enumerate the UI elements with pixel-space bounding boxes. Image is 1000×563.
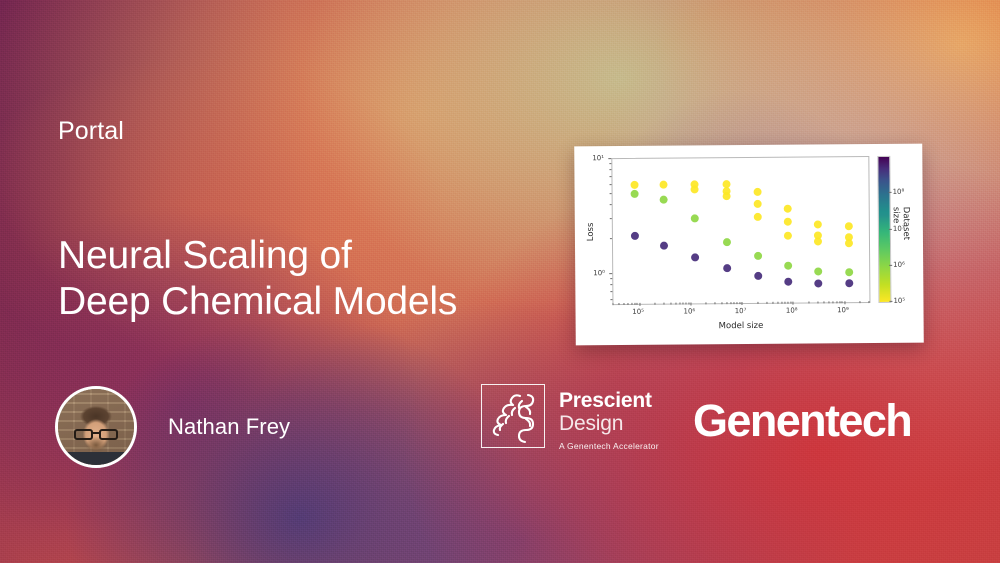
x-tick-label: 10⁹ [837,306,849,314]
scatter-point [723,238,731,246]
y-tick-label: 10⁰ [593,269,605,277]
axis-tick [777,302,778,304]
axis-tick [737,302,738,304]
axis-tick [628,303,629,305]
speaker-block: Nathan Frey [55,386,290,468]
axis-tick [610,218,612,219]
scatter-point [630,190,638,198]
scatter-point [844,222,852,230]
axis-tick [829,301,830,303]
glasses-icon [74,429,118,440]
scatter-point [784,217,792,225]
x-axis-title: Model size [719,321,764,331]
scatter-point [722,192,730,200]
scatter-point [845,239,853,247]
colorbar [877,156,891,303]
scatter-point [754,252,762,260]
plot-decorations: 10⁵10⁶10⁷10⁸10⁹10⁰10¹Model sizeLoss10⁵10… [574,144,922,147]
y-axis-title: Loss [586,222,596,241]
scatter-point [814,280,822,288]
axis-tick [685,302,686,304]
axis-tick [688,302,689,304]
figure-card: 10⁵10⁶10⁷10⁸10⁹10⁰10¹Model sizeLoss10⁵10… [574,144,924,346]
axis-tick [612,303,613,305]
axis-tick [655,303,656,305]
page-title: Neural Scaling of Deep Chemical Models [58,233,457,325]
axis-tick [631,303,632,305]
axis-tick [726,302,727,304]
colorbar-title: Dataset size [891,206,911,239]
prescient-tagline: A Genentech Accelerator [559,441,659,451]
avatar [55,386,137,468]
axis-tick [679,303,680,305]
scatter-point [814,238,822,246]
scatter-point [785,262,793,270]
axis-tick [734,302,735,304]
scatter-point [845,268,853,276]
axis-tick [824,301,825,303]
scatter-point [723,264,731,272]
prescient-design-logo: Prescient Design A Genentech Accelerator [481,384,659,451]
scatter-point [784,205,792,213]
scatter-point [753,212,761,220]
axis-tick [610,278,612,279]
axis-tick [608,158,611,159]
axis-tick [730,302,731,304]
avatar-photo [58,389,134,465]
scatter-point [691,253,699,261]
scatter-point [691,185,699,193]
x-tick-label: 10⁷ [735,307,747,315]
axis-tick [610,163,612,164]
axis-tick [839,301,840,303]
axis-tick [610,176,612,177]
scatter-point [753,200,761,208]
scatter-point [630,181,638,189]
speaker-name: Nathan Frey [168,414,290,440]
axis-tick [766,302,767,304]
axis-tick [788,302,789,304]
axis-tick [610,284,612,285]
genentech-wordmark: Genentech [693,398,911,443]
axis-tick [808,302,809,304]
axis-tick [889,192,892,193]
axis-tick [836,301,837,303]
axis-tick [637,303,638,305]
x-tick-label: 10⁶ [683,307,695,315]
axis-tick [742,302,743,305]
prescient-wordmark: Prescient Design A Genentech Accelerator [559,384,659,451]
axis-tick [715,302,716,304]
axis-tick [706,302,707,304]
axis-tick [790,302,791,304]
axis-tick [889,301,892,302]
y-tick-label: 10¹ [592,154,604,162]
protein-ribbon-icon [481,384,545,448]
axis-tick [889,265,892,266]
axis-tick [844,301,845,304]
axis-tick [611,291,613,292]
x-tick-label: 10⁸ [786,307,798,315]
axis-tick [609,273,612,274]
axis-tick [781,302,782,304]
scatter-point [814,221,822,229]
scatter-point [660,181,668,189]
axis-tick [772,302,773,304]
axis-tick [610,169,612,170]
scatter-point [660,242,668,250]
axis-tick [610,239,612,240]
axis-tick [842,301,843,303]
colorbar-tick-label: 10⁸ [893,188,905,196]
axis-tick [690,302,691,305]
axis-tick [610,193,612,194]
axis-tick [785,302,786,304]
axis-tick [664,303,665,305]
axis-tick [682,303,683,305]
axis-tick [721,302,722,304]
scatter-plot [611,156,870,305]
prescient-name-line2: Design [559,412,659,436]
scatter-point [691,215,699,223]
axis-tick [619,303,620,305]
axis-tick [817,301,818,303]
axis-tick [634,303,635,305]
axis-tick [859,301,860,303]
x-tick-label: 10⁵ [632,308,644,316]
scatter-point [845,279,853,287]
axis-tick [868,301,869,303]
scatter-point [784,232,792,240]
scatter-point [660,196,668,204]
presentation-slide: Portal Neural Scaling of Deep Chemical M… [0,0,1000,563]
axis-tick [611,299,613,300]
axis-tick [675,303,676,305]
scatter-point [814,268,822,276]
axis-tick [670,303,671,305]
axis-tick [610,204,612,205]
prescient-name-line1: Prescient [559,390,659,412]
axis-tick [624,303,625,305]
axis-tick [739,302,740,304]
scatter-point [785,277,793,285]
scatter-point [754,272,762,280]
eyebrow-label: Portal [58,117,124,146]
scatter-point [753,188,761,196]
axis-tick [639,303,640,306]
colorbar-tick-label: 10⁵ [893,297,905,305]
colorbar-tick-label: 10⁶ [893,261,905,269]
axis-tick [833,301,834,303]
axis-tick [793,302,794,305]
scatter-point [631,232,639,240]
axis-tick [610,184,612,185]
axis-tick [757,302,758,304]
